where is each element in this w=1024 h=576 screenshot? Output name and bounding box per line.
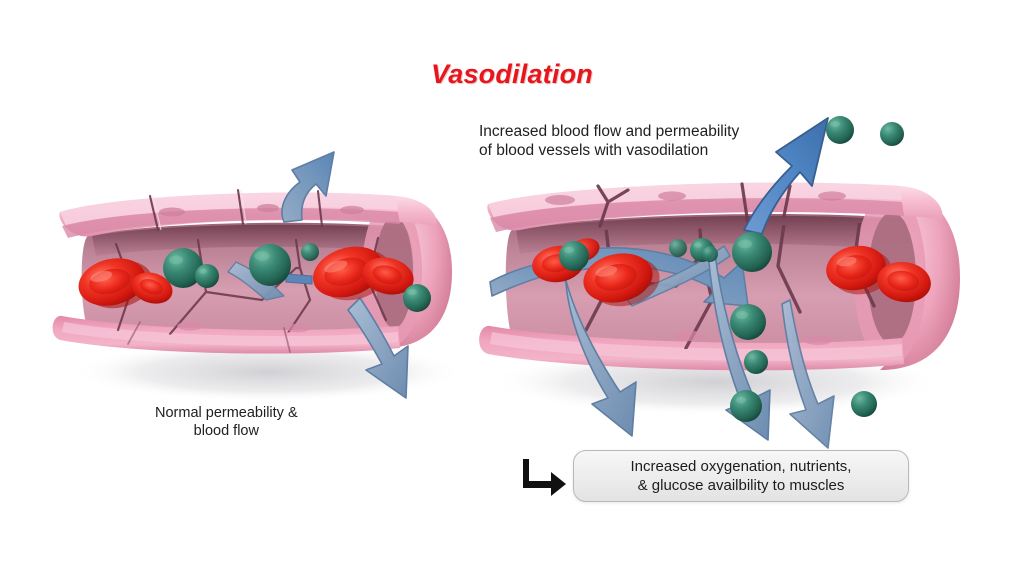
normal-wall-nucleus: [340, 206, 364, 214]
molecule: [403, 284, 431, 312]
dilated-wall-nucleus: [674, 331, 706, 341]
dilated-wall-nucleus: [658, 191, 686, 200]
molecule: [702, 246, 718, 262]
molecule: [732, 232, 772, 272]
molecule: [744, 350, 768, 374]
page-title: Vasodilation: [0, 58, 1024, 91]
molecule: [249, 244, 291, 286]
normal-wall-nucleus: [286, 324, 310, 333]
normal-caption: Normal permeability & blood flow: [155, 405, 298, 440]
molecule: [730, 390, 762, 422]
dilated-wall-nucleus: [803, 335, 833, 345]
molecule: [559, 241, 589, 271]
molecule: [669, 239, 687, 257]
molecule: [851, 391, 877, 417]
dilated-wall-nucleus: [545, 195, 575, 205]
elbow-arrow-icon: [521, 455, 569, 497]
molecule: [826, 116, 854, 144]
molecule: [195, 264, 219, 288]
callout-text: Increased oxygenation, nutrients, & gluc…: [631, 457, 852, 495]
dilation-caption: Increased blood flow and permeability of…: [479, 123, 739, 161]
normal-wall-nucleus: [177, 321, 203, 330]
normal-wall-nucleus: [257, 204, 279, 212]
diagram-canvas: Vasodilation Increased blood flow and pe…: [0, 0, 1024, 576]
molecule: [301, 243, 319, 261]
dilated-wall-nucleus: [818, 191, 846, 200]
molecule: [730, 304, 766, 340]
molecule: [880, 122, 904, 146]
normal-wall-nucleus: [159, 208, 185, 217]
callout-box: Increased oxygenation, nutrients, & gluc…: [573, 450, 909, 502]
